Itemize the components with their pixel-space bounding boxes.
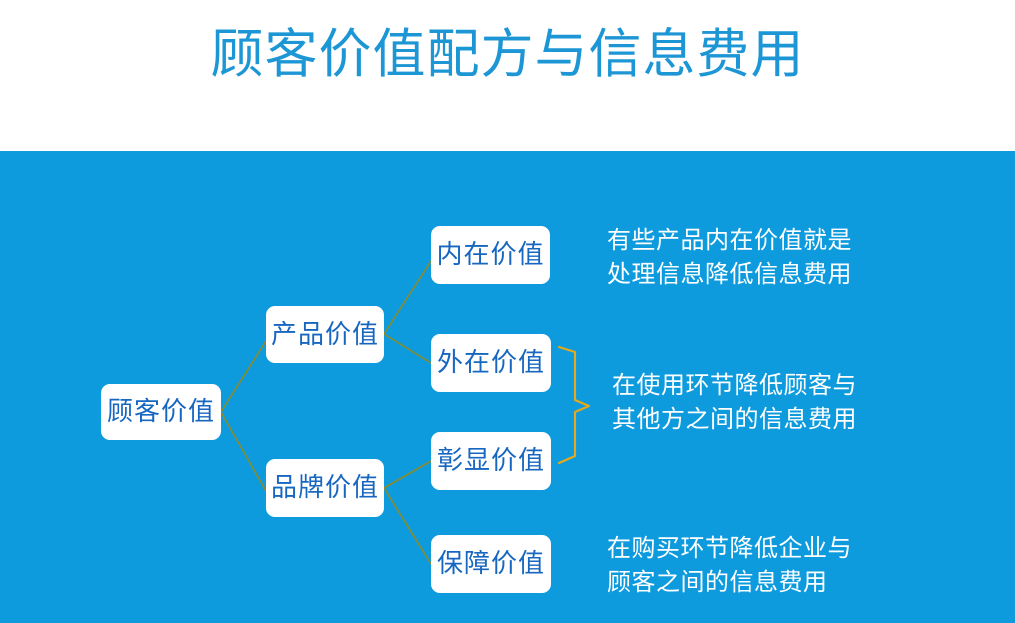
- node-intrinsic-value[interactable]: 内在价值: [431, 226, 550, 284]
- line-root-to-product: [221, 341, 266, 412]
- node-display-value[interactable]: 彰显价值: [431, 432, 551, 490]
- slide-root: 顾客价值配方与信息费用 顾客价值 产品价值 品牌价值 内在价值 外在价值 彰显价: [0, 0, 1015, 623]
- node-customer-value[interactable]: 顾客价值: [101, 384, 221, 440]
- annotation-usage-stage: 在使用环节降低顾客与 其他方之间的信息费用: [612, 368, 857, 436]
- bracket-outer-display: [559, 347, 589, 463]
- page-title: 顾客价值配方与信息费用: [0, 24, 1015, 86]
- line-product-to-inner: [384, 261, 431, 334]
- line-product-to-outer: [384, 334, 431, 363]
- node-assurance-value[interactable]: 保障价值: [431, 535, 551, 593]
- title-area: 顾客价值配方与信息费用: [0, 0, 1015, 151]
- diagram-panel: 顾客价值 产品价值 品牌价值 内在价值 外在价值 彰显价值 保障价值 有些产品内…: [0, 151, 1015, 623]
- node-product-value[interactable]: 产品价值: [266, 306, 384, 363]
- line-root-to-brand: [221, 412, 266, 491]
- annotation-intrinsic-value: 有些产品内在价值就是 处理信息降低信息费用: [607, 223, 852, 291]
- line-brand-to-display: [384, 461, 431, 488]
- annotation-purchase-stage: 在购买环节降低企业与 顾客之间的信息费用: [607, 531, 852, 599]
- node-brand-value[interactable]: 品牌价值: [266, 459, 384, 517]
- node-extrinsic-value[interactable]: 外在价值: [431, 334, 551, 392]
- line-brand-to-assurance: [384, 488, 431, 564]
